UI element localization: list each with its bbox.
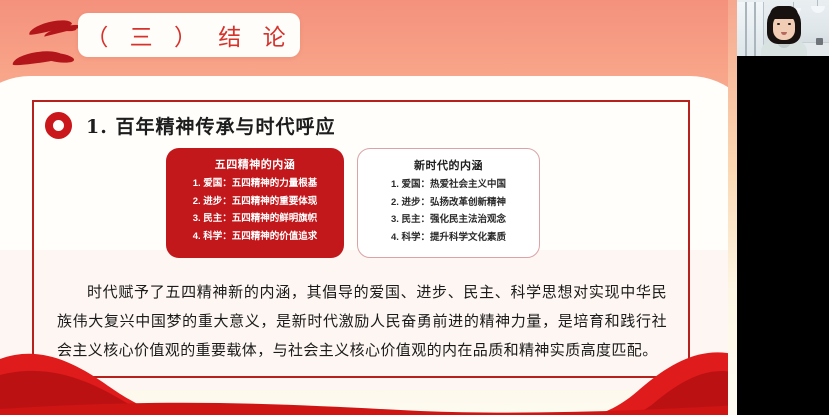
slide-body-paragraph: 时代赋予了五四精神新的内涵，其倡导的爱国、进步、民主、科学思想对实现中华民族伟大… <box>57 278 667 365</box>
list-item: 3. 民主：强化民主法治观念 <box>364 211 533 229</box>
presentation-slide: （ 三 ） 结 论 1. 百年精神传承与时代呼应 五四精神的内涵 1. 爱国：五… <box>0 0 737 415</box>
list-item: 1. 爱国：五四精神的力量根基 <box>172 175 338 193</box>
webcam-background-window <box>737 2 764 56</box>
decorative-bird-icon-1 <box>28 17 73 36</box>
slide-edge-strip <box>728 0 737 415</box>
info-box-list: 1. 爱国：热爱社会主义中国 2. 进步：弘扬改革创新精神 3. 民主：强化民主… <box>364 176 533 246</box>
info-box-title: 五四精神的内涵 <box>172 156 338 172</box>
webcam-window-mullion <box>745 2 747 56</box>
presenter-eye-left <box>777 23 780 25</box>
list-item: 4. 科学：五四精神的价值追求 <box>172 228 338 246</box>
decorative-bird-icon-2 <box>11 48 64 66</box>
section-title-text: （ 三 ） 结 论 <box>85 18 292 52</box>
list-item: 2. 进步：弘扬改革创新精神 <box>364 194 533 212</box>
video-panel-empty-area <box>737 56 829 415</box>
section-title-pill: （ 三 ） 结 论 <box>78 13 300 57</box>
webcam-window-mullion <box>754 2 756 56</box>
list-item: 3. 民主：五四精神的鲜明旗帜 <box>172 210 338 228</box>
list-item: 4. 科学：提升科学文化素质 <box>364 229 533 247</box>
card-heading-row: 1. 百年精神传承与时代呼应 <box>45 112 335 139</box>
list-item: 1. 爱国：热爱社会主义中国 <box>364 176 533 194</box>
video-panel <box>737 0 829 415</box>
list-item: 2. 进步：五四精神的重要体现 <box>172 193 338 211</box>
info-box-title: 新时代的内涵 <box>364 157 533 173</box>
webcam-background-mug <box>816 38 823 45</box>
presenter-eye-right <box>788 23 791 25</box>
info-box-list: 1. 爱国：五四精神的力量根基 2. 进步：五四精神的重要体现 3. 民主：五四… <box>172 175 338 245</box>
info-box-may-fourth-spirit: 五四精神的内涵 1. 爱国：五四精神的力量根基 2. 进步：五四精神的重要体现 … <box>166 148 344 258</box>
info-box-new-era-spirit: 新时代的内涵 1. 爱国：热爱社会主义中国 2. 进步：弘扬改革创新精神 3. … <box>357 148 540 258</box>
red-ring-icon <box>45 112 72 139</box>
card-heading-text: 1. 百年精神传承与时代呼应 <box>86 112 335 139</box>
presenter-fringe <box>770 6 798 19</box>
presenter-webcam-feed[interactable] <box>737 0 829 56</box>
screen-root: （ 三 ） 结 论 1. 百年精神传承与时代呼应 五四精神的内涵 1. 爱国：五… <box>0 0 829 415</box>
